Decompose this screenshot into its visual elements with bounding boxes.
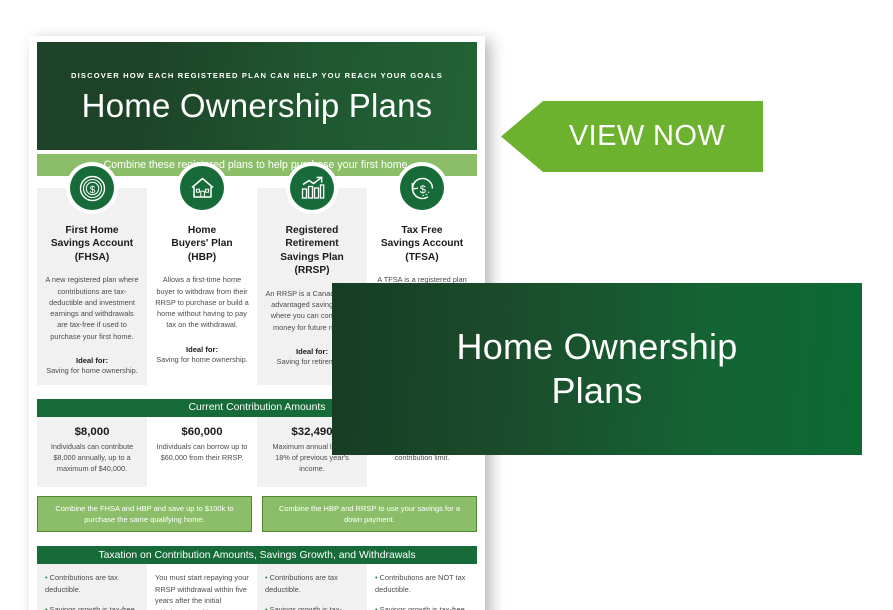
taxation-item-text: Contributions are NOT tax deductible. xyxy=(375,573,465,593)
overlay-title: Home Ownership Plans xyxy=(415,325,780,413)
infographic-hero: DISCOVER HOW EACH REGISTERED PLAN CAN HE… xyxy=(37,42,477,150)
plan-ideal-label: Ideal for: xyxy=(45,356,139,365)
plan-name: Registered Retirement Savings Plan (RRSP… xyxy=(265,224,359,278)
taxation-cell-tfsa: • Contributions are NOT tax deductible. … xyxy=(367,564,477,610)
bar-chart-growth-icon xyxy=(290,166,334,210)
taxation-item-text: Contributions are tax deductible. xyxy=(265,573,338,593)
taxation-item-text: You must start repaying your RRSP withdr… xyxy=(155,573,249,610)
amount-value: $8,000 xyxy=(45,426,139,438)
plan-ideal-label: Ideal for: xyxy=(155,345,249,354)
contribution-section-title: Current Contribution Amounts xyxy=(189,402,326,413)
dollar-coin-icon: $ xyxy=(70,166,114,210)
taxation-item-text: Savings growth is tax-deferred. xyxy=(265,605,342,610)
hero-kicker: DISCOVER HOW EACH REGISTERED PLAN CAN HE… xyxy=(71,71,443,80)
taxation-cell-fhsa: • Contributions are tax deductible. • Sa… xyxy=(37,564,147,610)
svg-text:$: $ xyxy=(89,185,95,196)
plan-column-hbp[interactable]: Home Buyers' Plan (HBP) Allows a first-t… xyxy=(147,188,257,385)
taxation-section-bar: Taxation on Contribution Amounts, Saving… xyxy=(37,546,477,564)
amount-note: Individuals can borrow up to $60,000 fro… xyxy=(155,442,249,464)
taxation-item-text: Contributions are tax deductible. xyxy=(45,573,118,593)
amount-value: $60,000 xyxy=(155,426,249,438)
plan-ideal-text: Saving for home ownership. xyxy=(45,366,139,375)
taxation-item-text: Savings growth is tax-free. xyxy=(380,605,467,610)
plan-name: Tax Free Savings Account (TFSA) xyxy=(375,224,469,264)
house-icon xyxy=(180,166,224,210)
plan-column-fhsa[interactable]: $ First Home Savings Account (FHSA) A ne… xyxy=(37,188,147,385)
taxation-cell-hbp: You must start repaying your RRSP withdr… xyxy=(147,564,257,610)
plan-name: Home Buyers' Plan (HBP) xyxy=(155,224,249,264)
taxation-item-text: Savings growth is tax-free. xyxy=(50,605,137,610)
combine-callouts: Combine the FHSA and HBP and save up to … xyxy=(37,496,477,533)
taxation-item: • Contributions are tax deductible. xyxy=(265,572,360,595)
taxation-item: • Savings growth is tax-deferred. xyxy=(265,604,360,610)
taxation-item: • Contributions are NOT tax deductible. xyxy=(375,572,470,595)
view-now-button[interactable]: VIEW NOW xyxy=(501,101,763,172)
amount-cell-fhsa: $8,000 Individuals can contribute $8,000… xyxy=(37,417,147,487)
plan-name: First Home Savings Account (FHSA) xyxy=(45,224,139,264)
screenshot-canvas: DISCOVER HOW EACH REGISTERED PLAN CAN HE… xyxy=(0,0,893,610)
plan-description: Allows a first-time home buyer to withdr… xyxy=(155,274,249,330)
taxation-section-title: Taxation on Contribution Amounts, Saving… xyxy=(98,550,415,561)
amount-note: Individuals can contribute $8,000 annual… xyxy=(45,442,139,475)
taxation-item: • Savings growth is tax-free. xyxy=(375,604,470,610)
hero-title: Home Ownership Plans xyxy=(82,87,433,125)
combine-callout-fhsa-hbp: Combine the FHSA and HBP and save up to … xyxy=(37,496,252,533)
combine-callout-hbp-rrsp: Combine the HBP and RRSP to use your sav… xyxy=(262,496,477,533)
plan-description: A new registered plan where contribution… xyxy=(45,274,139,342)
amount-cell-hbp: $60,000 Individuals can borrow up to $60… xyxy=(147,417,257,487)
taxation-cell-rrsp: • Contributions are tax deductible. • Sa… xyxy=(257,564,367,610)
svg-text:$: $ xyxy=(419,184,425,196)
taxation-item: • Savings growth is tax-free. xyxy=(45,604,140,610)
plan-ideal-text: Saving for home ownership. xyxy=(155,355,249,364)
hero-subtitle: Combine these registered plans to help p… xyxy=(104,159,411,171)
view-now-label: VIEW NOW xyxy=(539,120,725,153)
overlay-title-card[interactable]: Home Ownership Plans xyxy=(332,283,862,455)
taxation-row: • Contributions are tax deductible. • Sa… xyxy=(37,564,477,610)
dollar-refresh-icon: $ xyxy=(400,166,444,210)
taxation-item: You must start repaying your RRSP withdr… xyxy=(155,572,250,610)
taxation-item: • Contributions are tax deductible. xyxy=(45,572,140,595)
